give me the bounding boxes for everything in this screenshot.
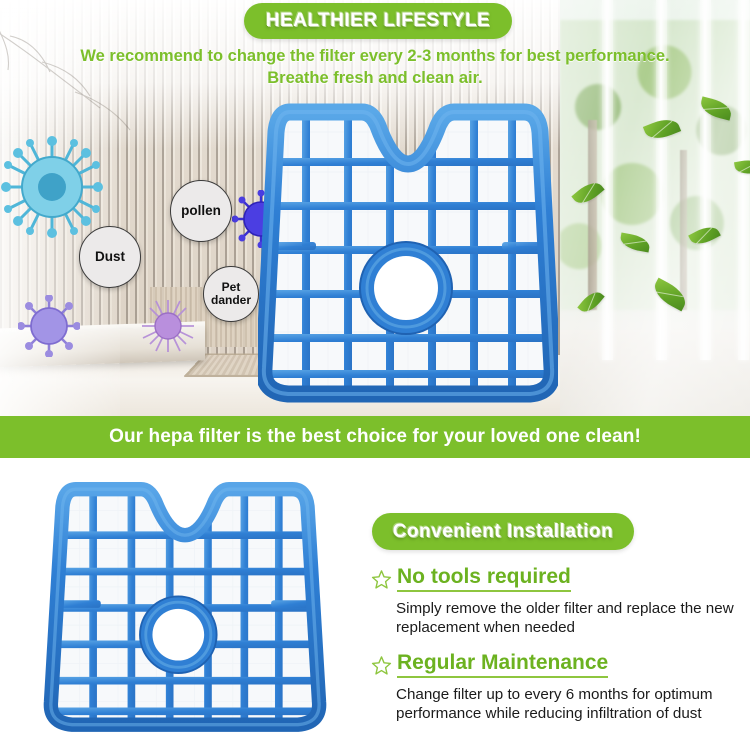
feature-heading: Regular Maintenance (371, 652, 746, 678)
green-banner: Our hepa filter is the best choice for y… (0, 416, 750, 458)
product-infographic: Dust pollen Pet dander (0, 0, 750, 750)
star-icon (371, 655, 392, 676)
hepa-filter-hero (258, 92, 558, 410)
bubble-dust: Dust (79, 226, 141, 288)
feature-title: Regular Maintenance (397, 652, 608, 678)
subtitle-line-2: Breathe fresh and clean air. (40, 68, 710, 90)
subtitle: We recommend to change the filter every … (40, 46, 710, 90)
subtitle-line-1: We recommend to change the filter every … (40, 46, 710, 68)
star-icon (371, 569, 392, 590)
bubble-label: Pet dander (211, 281, 251, 307)
feature-regular-maintenance: Regular Maintenance Change filter up to … (371, 652, 746, 724)
bubble-pet-dander: Pet dander (203, 266, 259, 322)
feature-body: Change filter up to every 6 months for o… (396, 685, 746, 723)
badge-convenient-installation: Convenient Installation (372, 513, 634, 550)
feature-heading: No tools required (371, 566, 746, 592)
green-banner-text: Our hepa filter is the best choice for y… (109, 426, 641, 448)
hepa-filter-secondary (40, 472, 330, 740)
bubble-pollen: pollen (170, 180, 232, 242)
virus-particle-cyan (0, 135, 105, 240)
hepa-filter-graphic (258, 92, 558, 410)
feature-no-tools-required: No tools required Simply remove the olde… (371, 566, 746, 638)
virus-particle-violet (18, 295, 80, 357)
badge-label: HEALTHIER LIFESTYLE (266, 10, 490, 32)
feature-body: Simply remove the older filter and repla… (396, 599, 746, 637)
badge-healthier-lifestyle: HEALTHIER LIFESTYLE (244, 3, 512, 39)
feature-title: No tools required (397, 566, 571, 592)
badge-label: Convenient Installation (393, 521, 614, 543)
hepa-filter-graphic (40, 472, 330, 740)
bubble-label: pollen (181, 204, 221, 219)
pollen-particle (140, 298, 196, 354)
bubble-label: Dust (95, 250, 125, 265)
